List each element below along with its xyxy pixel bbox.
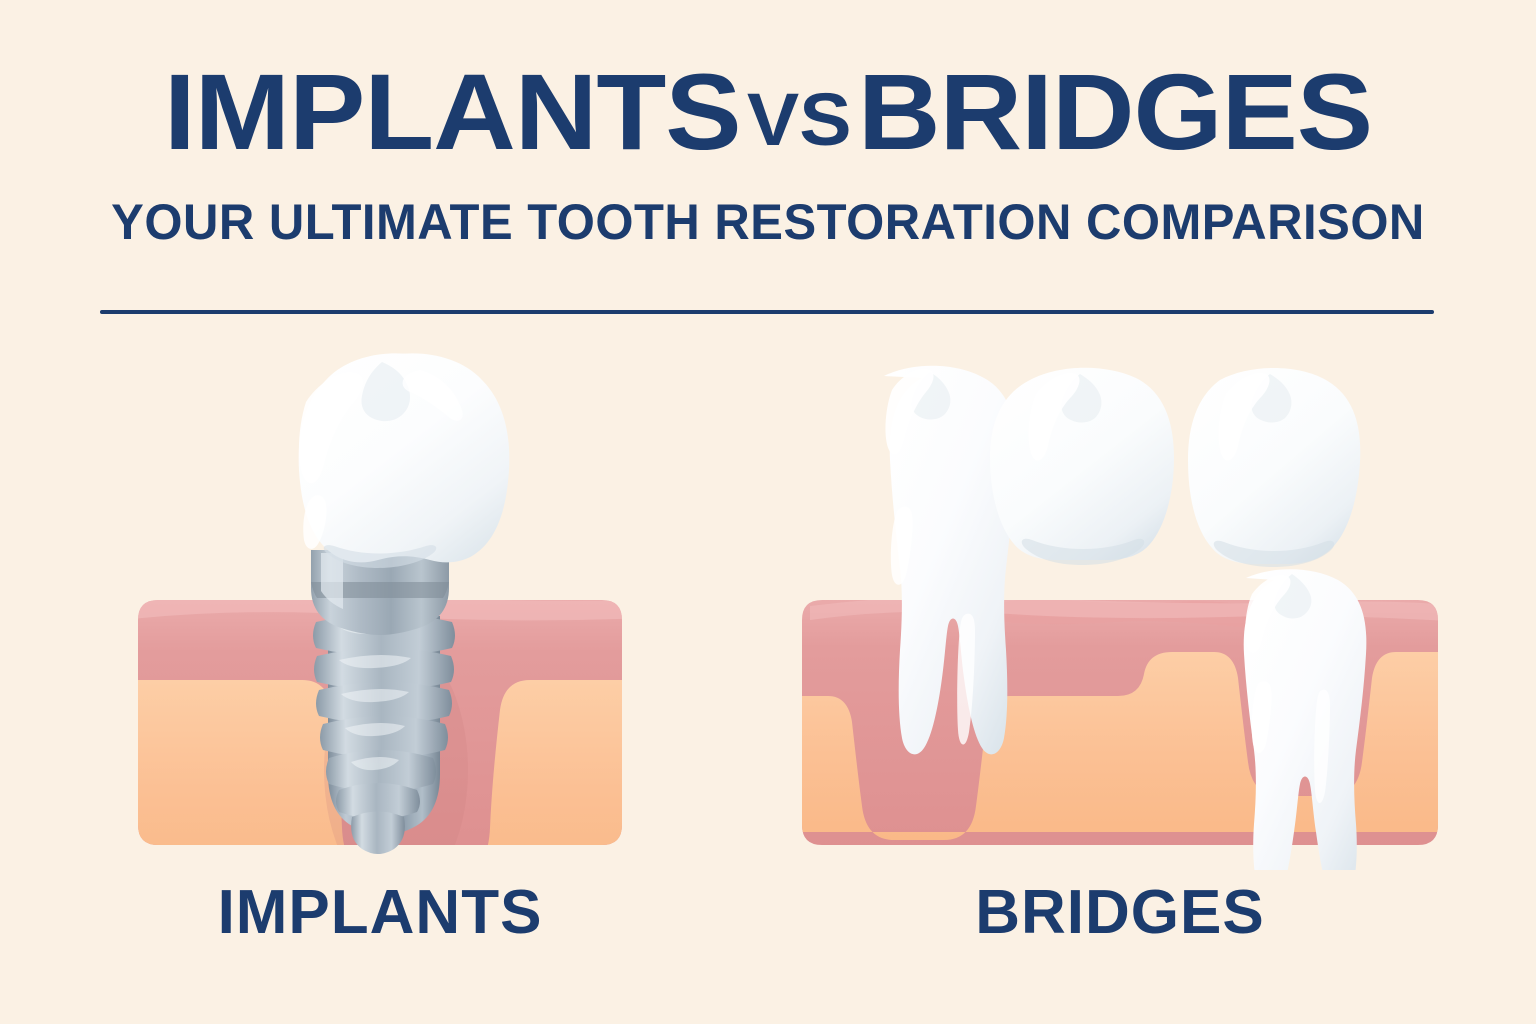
crown xyxy=(299,353,510,568)
header-divider xyxy=(100,310,1434,314)
title-vs-separator: VS xyxy=(741,78,858,161)
title-part-implants: IMPLANTS xyxy=(164,51,741,172)
panel-label-implants: IMPLANTS xyxy=(120,880,640,946)
infographic-canvas: IMPLANTSVSBRIDGES YOUR ULTIMATE TOOTH RE… xyxy=(0,0,1536,1024)
panel-bridges: BRIDGES xyxy=(780,350,1460,970)
title-part-bridges: BRIDGES xyxy=(858,51,1372,172)
pontic-crown xyxy=(990,368,1174,565)
right-abutment-crown xyxy=(1188,368,1360,567)
page-title: IMPLANTSVSBRIDGES xyxy=(0,58,1536,174)
dental-bridge-illustration xyxy=(780,350,1460,870)
page-subtitle: YOUR ULTIMATE TOOTH RESTORATION COMPARIS… xyxy=(15,196,1520,248)
panel-label-bridges: BRIDGES xyxy=(780,880,1460,946)
dental-implant-illustration xyxy=(120,350,640,870)
panel-implants: IMPLANTS xyxy=(120,350,640,970)
